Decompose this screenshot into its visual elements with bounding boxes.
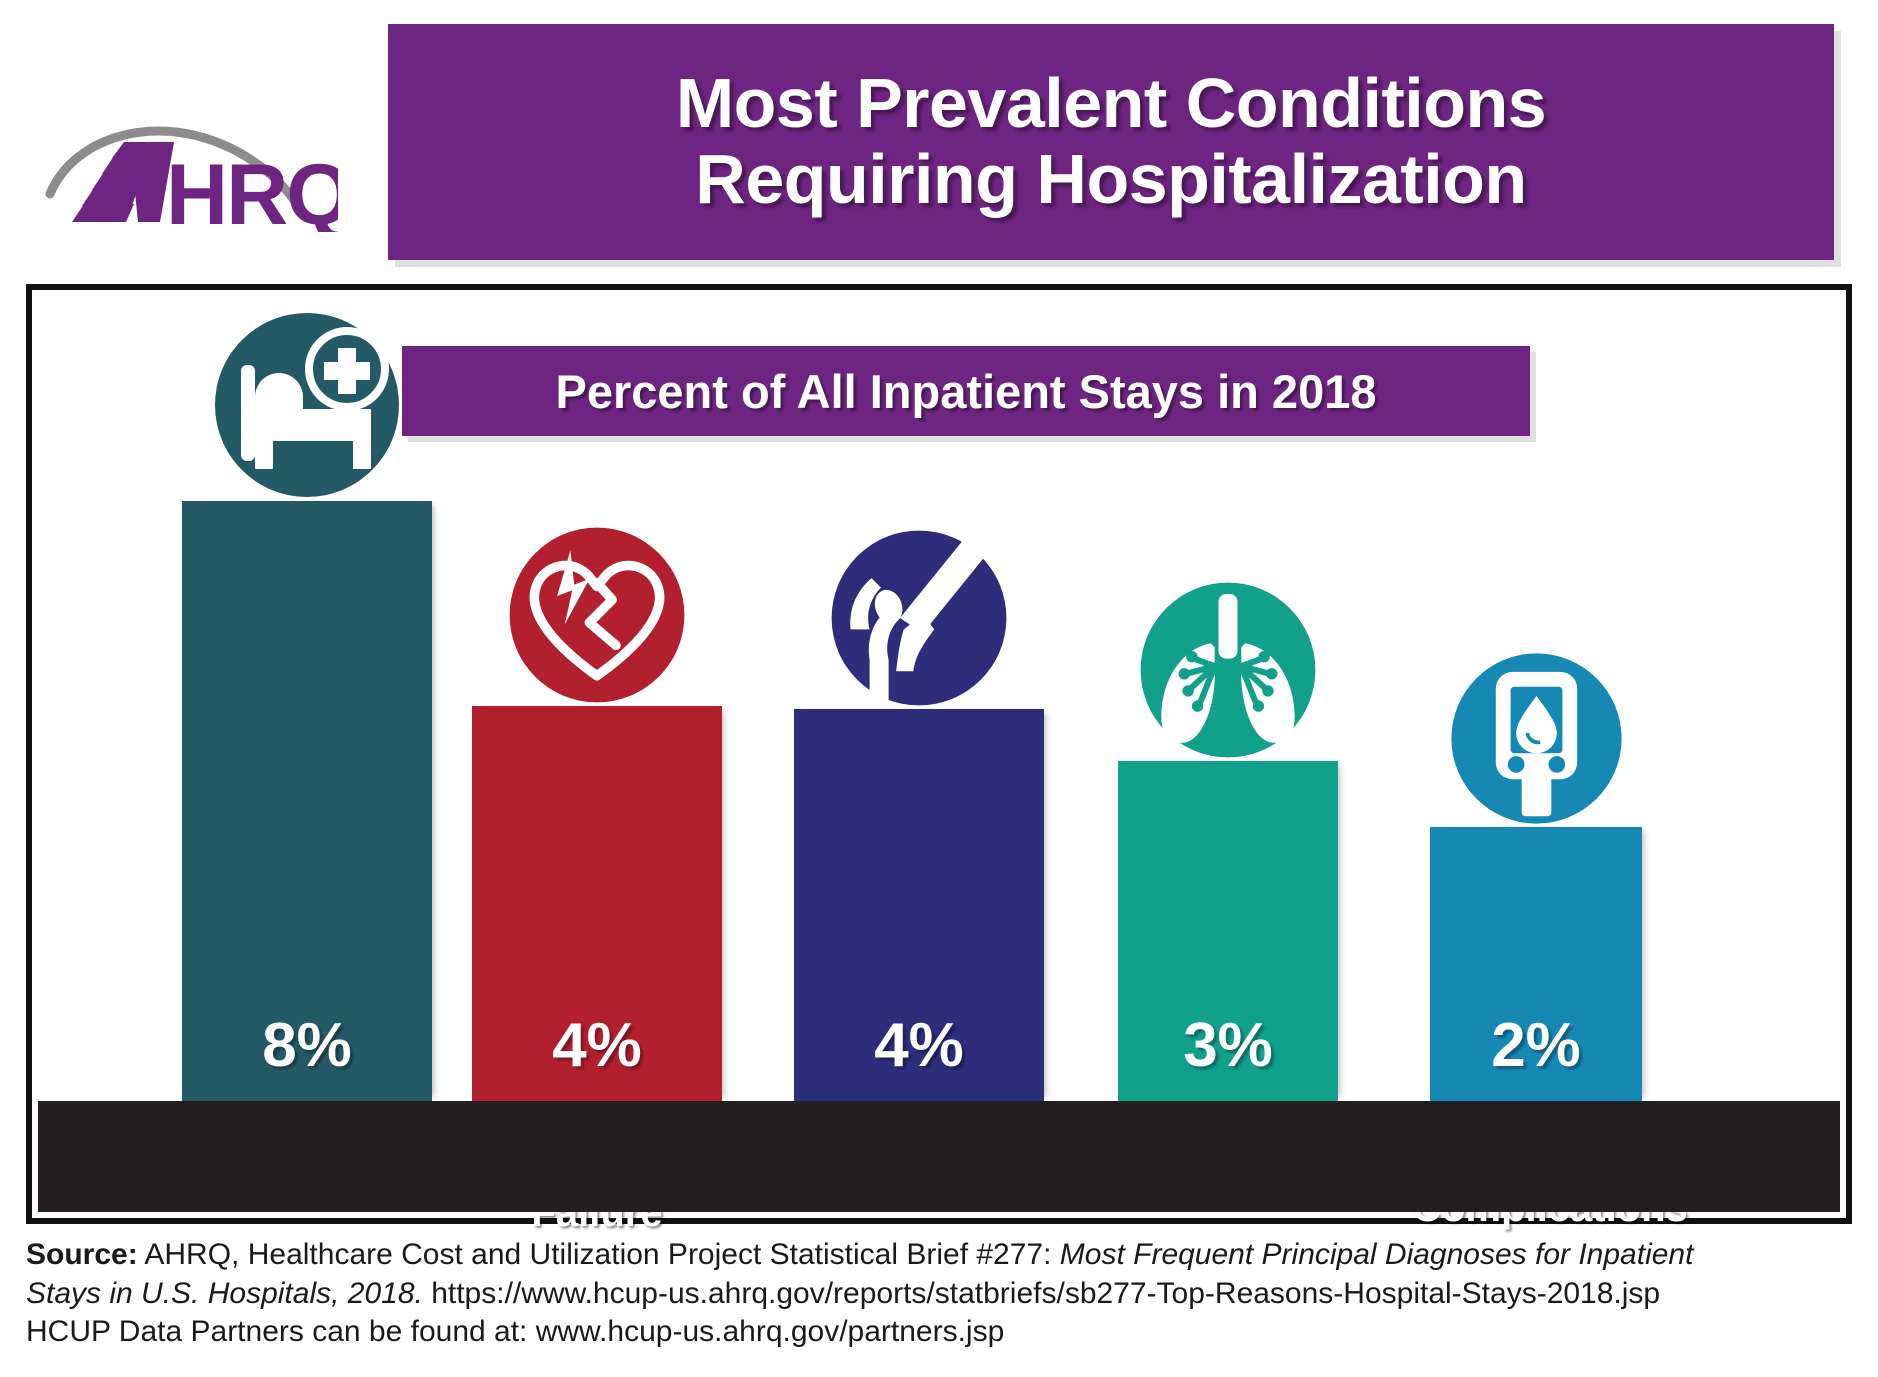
page-title-line-1: Most Prevalent Conditions bbox=[676, 66, 1546, 142]
source-line-2-url[interactable]: https://www.hcup-us.ahrq.gov/reports/sta… bbox=[423, 1277, 1660, 1310]
bar-value-septicemia: 8% bbox=[262, 1015, 352, 1101]
hospital-bed-icon bbox=[207, 305, 407, 505]
bar-rect-septicemia: 8% bbox=[182, 501, 432, 1101]
chart-subtitle: Percent of All Inpatient Stays in 2018 bbox=[555, 364, 1376, 419]
bar-rect-heart-failure: 4% bbox=[472, 706, 722, 1101]
svg-text:HRQ: HRQ bbox=[166, 147, 338, 232]
source-line-1-text: AHRQ, Healthcare Cost and Utilization Pr… bbox=[138, 1238, 1060, 1271]
page-header: HRQ AHRQ Most Prevalent Conditions Requi… bbox=[0, 0, 1878, 272]
bar-group-septicemia[interactable]: 8% bbox=[182, 296, 432, 1101]
source-label: Source: bbox=[26, 1238, 138, 1271]
page-title-line-2: Requiring Hospitalization bbox=[695, 142, 1526, 218]
source-line-1: Source: AHRQ, Healthcare Cost and Utiliz… bbox=[26, 1236, 1852, 1275]
bar-value-osteoarthritis: 4% bbox=[874, 1015, 964, 1101]
knee-joint-icon bbox=[824, 523, 1014, 713]
chart-subtitle-banner: Percent of All Inpatient Stays in 2018 bbox=[402, 346, 1530, 436]
bar-rect-pneumonia: 3% bbox=[1118, 761, 1338, 1101]
chart-frame: Percent of All Inpatient Stays in 2018 8… bbox=[26, 284, 1852, 1224]
glucose-meter-icon bbox=[1444, 646, 1629, 831]
source-line-1-italic: Most Frequent Principal Diagnoses for In… bbox=[1060, 1238, 1694, 1271]
bar-value-heart-failure: 4% bbox=[552, 1015, 642, 1101]
source-line-3[interactable]: HCUP Data Partners can be found at: www.… bbox=[26, 1313, 1852, 1352]
lungs-icon bbox=[1133, 575, 1323, 765]
chart-footer-band bbox=[38, 1101, 1840, 1212]
bar-rect-diabetes: 2% bbox=[1430, 827, 1642, 1101]
ahrq-logo-mark: HRQ bbox=[38, 112, 338, 232]
source-footnote: Source: AHRQ, Healthcare Cost and Utiliz… bbox=[26, 1236, 1852, 1352]
bar-value-pneumonia: 3% bbox=[1183, 1015, 1273, 1101]
bar-value-diabetes: 2% bbox=[1491, 1015, 1581, 1101]
broken-heart-icon bbox=[502, 520, 692, 710]
bar-rect-osteoarthritis: 4% bbox=[794, 709, 1044, 1101]
source-line-2-italic: Stays in U.S. Hospitals, 2018. bbox=[26, 1277, 423, 1310]
title-banner: Most Prevalent Conditions Requiring Hosp… bbox=[388, 24, 1834, 260]
ahrq-logo: HRQ AHRQ bbox=[38, 112, 338, 232]
source-line-2: Stays in U.S. Hospitals, 2018. https://w… bbox=[26, 1275, 1852, 1314]
